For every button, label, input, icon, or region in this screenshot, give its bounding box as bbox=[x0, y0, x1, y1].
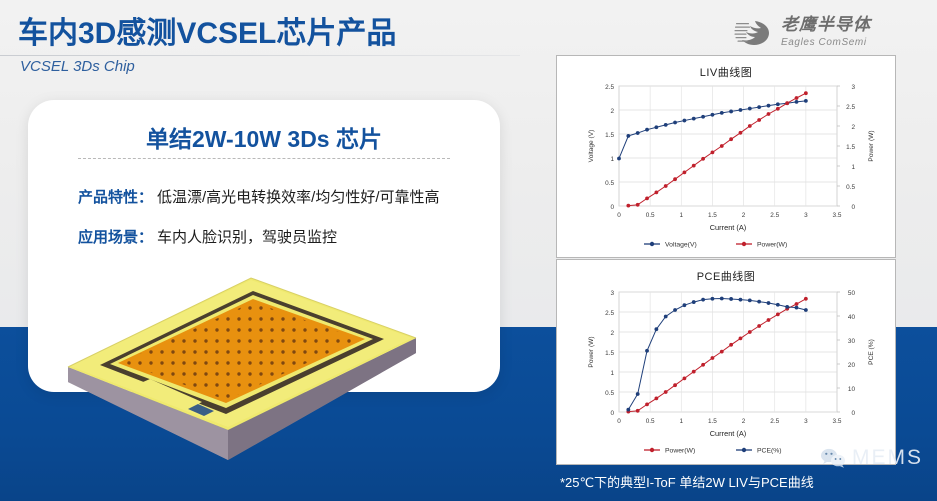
svg-text:1: 1 bbox=[680, 212, 684, 219]
svg-text:0: 0 bbox=[851, 204, 855, 211]
svg-text:PCE (%): PCE (%) bbox=[868, 339, 875, 365]
feature-row: 产品特性： 低温漂/高光电转换效率/均匀性好/可靠性高 bbox=[78, 186, 440, 207]
svg-text:2.5: 2.5 bbox=[605, 84, 614, 91]
svg-text:Voltage(V): Voltage(V) bbox=[665, 242, 697, 249]
svg-text:2: 2 bbox=[742, 212, 746, 219]
svg-text:PCE(%): PCE(%) bbox=[757, 448, 782, 455]
svg-text:Power(W): Power(W) bbox=[757, 242, 787, 249]
company-logo: 老鹰半导体 Eagles ComSemi bbox=[733, 10, 923, 54]
svg-text:0: 0 bbox=[610, 204, 614, 211]
svg-text:1: 1 bbox=[610, 156, 614, 163]
svg-text:3: 3 bbox=[610, 290, 614, 297]
svg-text:Current (A): Current (A) bbox=[710, 429, 747, 438]
svg-text:1.5: 1.5 bbox=[605, 350, 614, 357]
svg-text:1.5: 1.5 bbox=[708, 418, 717, 425]
svg-text:0: 0 bbox=[617, 418, 621, 425]
svg-text:2.5: 2.5 bbox=[770, 418, 779, 425]
svg-text:2: 2 bbox=[610, 330, 614, 337]
pce-chart-plot: 00.511.522.5300.511.522.533.501020304050… bbox=[557, 260, 897, 466]
svg-text:Power (W): Power (W) bbox=[868, 130, 875, 161]
slide-root: 车内3D感测VCSEL芯片产品 VCSEL 3Ds Chip 老鹰半导体 Eag… bbox=[0, 0, 937, 501]
vcsel-chip-illustration bbox=[38, 250, 438, 465]
svg-text:Voltage (V): Voltage (V) bbox=[588, 130, 595, 163]
svg-text:0.5: 0.5 bbox=[846, 184, 855, 191]
logo-name-cn: 老鹰半导体 bbox=[781, 16, 871, 35]
svg-text:40: 40 bbox=[848, 314, 856, 321]
svg-text:1: 1 bbox=[851, 164, 855, 171]
application-label: 应用场景： bbox=[78, 226, 153, 247]
svg-text:2.5: 2.5 bbox=[770, 212, 779, 219]
page-title: 车内3D感测VCSEL芯片产品 bbox=[18, 8, 396, 52]
svg-text:0.5: 0.5 bbox=[605, 180, 614, 187]
svg-text:3: 3 bbox=[804, 212, 808, 219]
svg-text:2: 2 bbox=[610, 108, 614, 115]
svg-text:0: 0 bbox=[610, 410, 614, 417]
svg-text:50: 50 bbox=[848, 290, 856, 297]
svg-text:Current (A): Current (A) bbox=[710, 223, 747, 232]
page-subtitle: VCSEL 3Ds Chip bbox=[20, 58, 135, 75]
mems-watermark: MEMS bbox=[820, 446, 923, 470]
svg-text:1: 1 bbox=[610, 370, 614, 377]
svg-text:2: 2 bbox=[851, 124, 855, 131]
svg-text:2.5: 2.5 bbox=[846, 104, 855, 111]
application-value: 车内人脸识别，驾驶员监控 bbox=[157, 226, 337, 247]
watermark-text: MEMS bbox=[852, 446, 923, 470]
svg-text:Power (W): Power (W) bbox=[588, 336, 595, 367]
svg-text:3: 3 bbox=[851, 84, 855, 91]
svg-text:10: 10 bbox=[848, 386, 856, 393]
chart-caption: *25℃下的典型I-ToF 单结2W LIV与PCE曲线 bbox=[560, 472, 814, 491]
logo-name-en: Eagles ComSemi bbox=[781, 37, 871, 48]
svg-text:1: 1 bbox=[680, 418, 684, 425]
svg-text:2.5: 2.5 bbox=[605, 310, 614, 317]
logo-text-block: 老鹰半导体 Eagles ComSemi bbox=[781, 16, 871, 48]
svg-text:30: 30 bbox=[848, 338, 856, 345]
svg-text:2: 2 bbox=[742, 418, 746, 425]
svg-text:Power(W): Power(W) bbox=[665, 448, 695, 455]
card-title: 单结2W-10W 3Ds 芯片 bbox=[28, 120, 500, 154]
liv-chart-plot: 00.511.522.500.511.522.533.500.511.522.5… bbox=[557, 56, 897, 259]
wechat-icon bbox=[820, 447, 846, 469]
svg-text:0: 0 bbox=[851, 410, 855, 417]
svg-text:0: 0 bbox=[617, 212, 621, 219]
application-row: 应用场景： 车内人脸识别，驾驶员监控 bbox=[78, 226, 337, 247]
feature-value: 低温漂/高光电转换效率/均匀性好/可靠性高 bbox=[157, 186, 440, 207]
eagle-logo-icon bbox=[733, 15, 773, 49]
card-divider bbox=[78, 158, 450, 159]
svg-text:1.5: 1.5 bbox=[708, 212, 717, 219]
svg-text:1.5: 1.5 bbox=[846, 144, 855, 151]
svg-text:3.5: 3.5 bbox=[833, 212, 842, 219]
svg-text:3.5: 3.5 bbox=[833, 418, 842, 425]
liv-chart-panel: LIV曲线图 00.511.522.500.511.522.533.500.51… bbox=[556, 55, 896, 258]
svg-text:0.5: 0.5 bbox=[646, 418, 655, 425]
feature-label: 产品特性： bbox=[78, 186, 153, 207]
svg-text:3: 3 bbox=[804, 418, 808, 425]
svg-text:0.5: 0.5 bbox=[646, 212, 655, 219]
pce-chart-panel: PCE曲线图 00.511.522.5300.511.522.533.50102… bbox=[556, 259, 896, 465]
svg-text:20: 20 bbox=[848, 362, 856, 369]
header-divider bbox=[0, 55, 520, 56]
svg-text:1.5: 1.5 bbox=[605, 132, 614, 139]
charts-container: LIV曲线图 00.511.522.500.511.522.533.500.51… bbox=[556, 55, 896, 465]
svg-text:0.5: 0.5 bbox=[605, 390, 614, 397]
